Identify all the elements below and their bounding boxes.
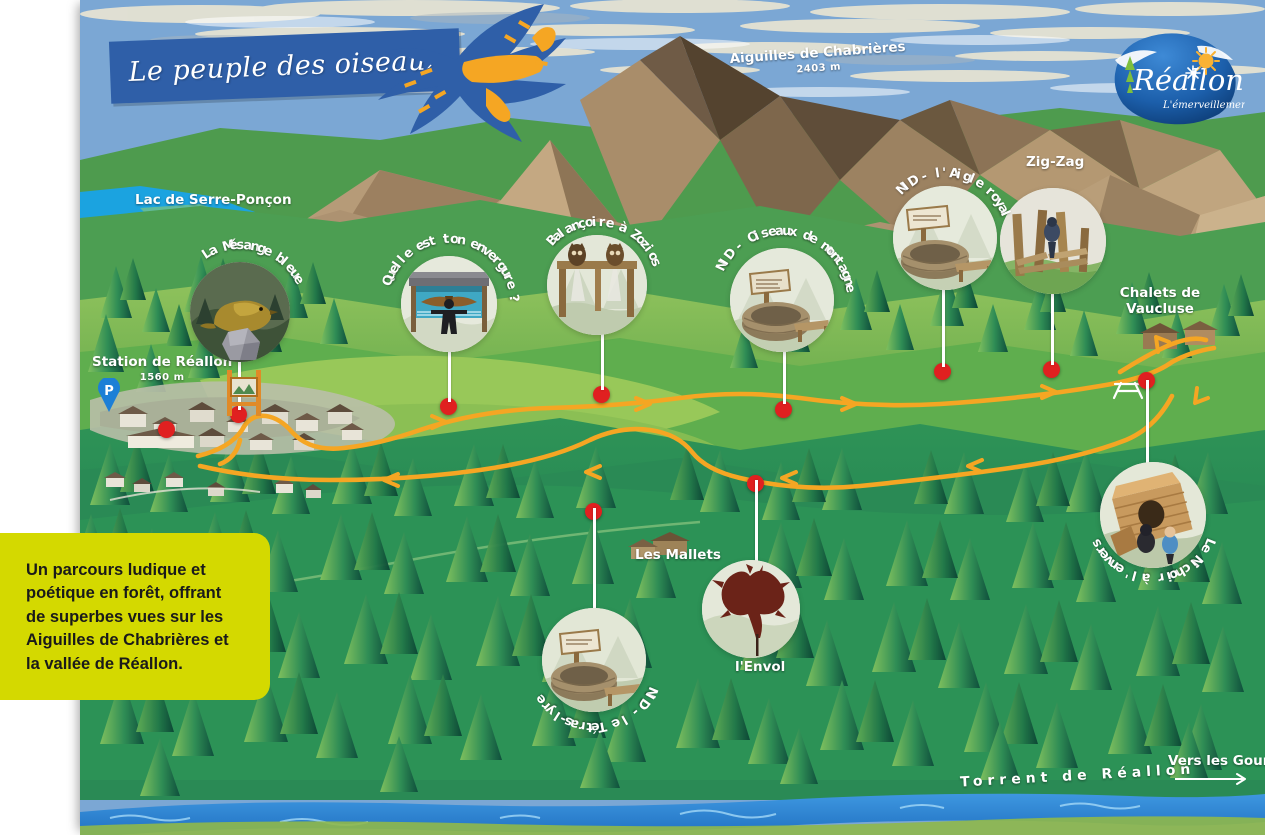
station-circle-mesange[interactable] — [190, 262, 290, 362]
station-circle-nichoir[interactable] — [1100, 462, 1206, 568]
info-callout-box: Un parcours ludique et poétique en forêt… — [0, 533, 270, 700]
station-circle-tetras[interactable] — [542, 608, 646, 712]
snowflake-icon — [1186, 66, 1200, 80]
station-circle-zigzag[interactable] — [1000, 188, 1106, 294]
info-callout-text: Un parcours ludique et poétique en forêt… — [26, 561, 229, 673]
station-circle-balancoire[interactable] — [547, 235, 647, 335]
gourniers-arrow-icon — [1175, 772, 1255, 786]
station-circle-envol[interactable] — [702, 560, 800, 658]
illustrated-trail-map: Le peuple des oiseaux — [0, 0, 1265, 835]
logo-tagline: L'émerveillement — [1162, 100, 1245, 111]
connector-tetras — [593, 508, 596, 620]
station-circle-envergure[interactable] — [401, 256, 497, 352]
station-dot-start[interactable] — [158, 421, 175, 438]
map-illustration-layer — [80, 0, 1265, 835]
station-circle-nid-montagne[interactable] — [730, 248, 834, 352]
flying-bird-graphic — [360, 0, 590, 160]
parking-pin[interactable]: P — [96, 378, 122, 412]
trail-sign-icon — [223, 368, 265, 416]
parking-letter: P — [104, 384, 114, 399]
map-canvas[interactable]: Le peuple des oiseaux — [80, 0, 1265, 835]
reallon-logo[interactable]: Réallon L'émerveillement — [1105, 30, 1245, 125]
station-circle-nid-aigle[interactable] — [893, 186, 997, 290]
connector-envol — [755, 480, 758, 562]
